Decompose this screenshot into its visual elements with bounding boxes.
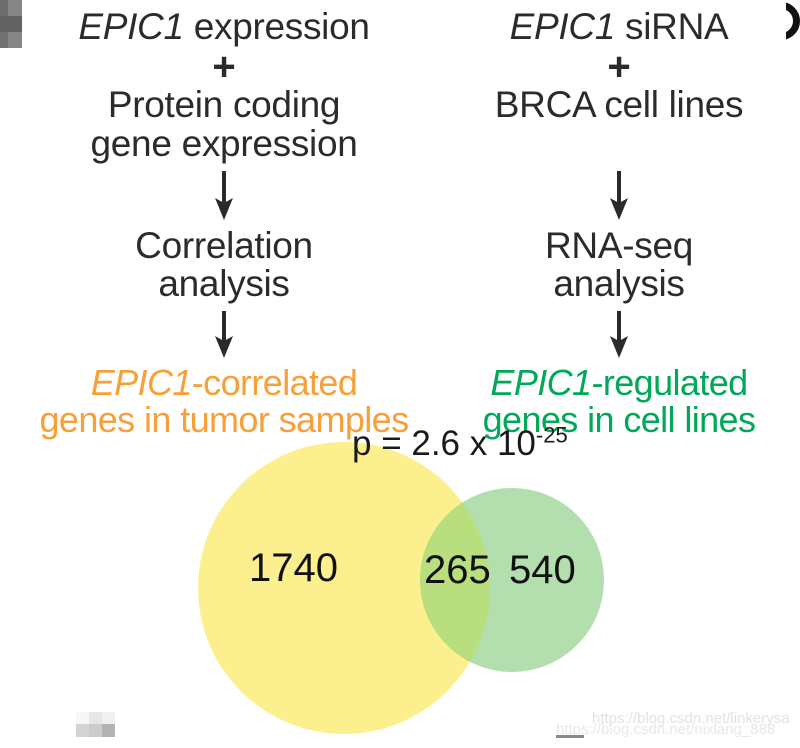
venn-count-left-only: 1740 [249,546,338,591]
flow-left-input-line1-rest: expression [184,6,370,47]
arrow-down-icon [606,171,632,221]
gene-name-epic1: EPIC1 [510,6,615,47]
gene-name-epic1: EPIC1 [490,362,591,403]
flow-column-left: EPIC1 expression + Protein coding gene e… [4,8,444,439]
pvalue-base: p = 2.6 x 10 [352,424,536,463]
plus-operator-left: + [4,48,444,86]
flow-right-result-line1: EPIC1-regulated [446,365,792,402]
pvalue-annotation: p = 2.6 x 10-25 [352,424,568,464]
flow-left-result-line1: EPIC1-correlated [4,365,444,402]
arrow-down-icon [211,311,237,359]
flow-right-method-line2: analysis [446,265,792,304]
flow-left-input-line1: EPIC1 expression [4,8,444,47]
gene-name-epic1: EPIC1 [91,362,192,403]
flow-left-method-line1: Correlation [4,227,444,266]
flow-right-method-line1: RNA-seq [446,227,792,266]
venn-count-right-only: 540 [509,548,576,593]
pvalue-exponent: -25 [536,422,568,447]
flow-right-input-line1-rest: siRNA [615,6,728,47]
flow-right-result-suffix: -regulated [591,362,747,403]
venn-diagram [0,420,800,748]
flow-column-right: EPIC1 siRNA + BRCA cell lines RNA-seq an… [446,8,792,439]
venn-count-intersection: 265 [424,548,491,593]
flow-left-input-line2: Protein coding [4,86,444,125]
plus-operator-right: + [446,48,792,86]
flow-right-input-line2: BRCA cell lines [446,86,792,125]
watermark-rule [556,735,584,738]
figure-panel: EPIC1 expression + Protein coding gene e… [0,0,800,748]
flow-left-input-line3: gene expression [4,125,444,164]
gene-name-epic1: EPIC1 [78,6,183,47]
flow-left-method-line2: analysis [4,265,444,304]
flow-left-result-suffix: -correlated [192,362,357,403]
arrow-down-icon [606,311,632,359]
flow-right-input-line1: EPIC1 siRNA [446,8,792,47]
arrow-down-icon [211,171,237,221]
